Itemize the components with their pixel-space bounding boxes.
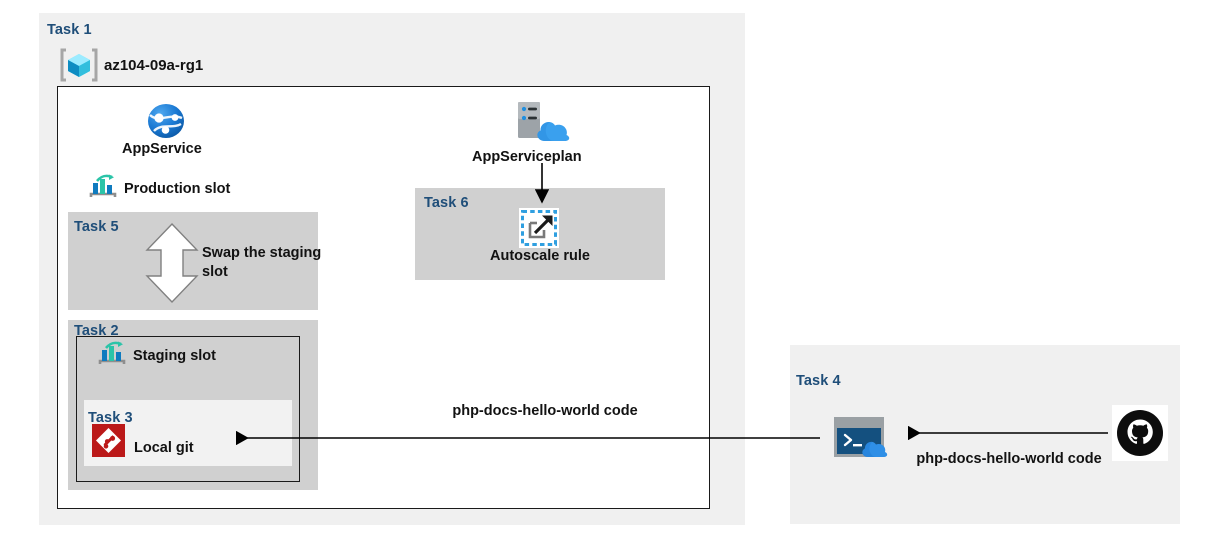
- autoscale-rule-label: Autoscale rule: [490, 248, 590, 264]
- task1-label: Task 1: [47, 22, 92, 38]
- appserviceplan-label: AppServiceplan: [472, 149, 582, 165]
- github-icon: [1112, 405, 1168, 461]
- appserviceplan-icon: [510, 100, 574, 146]
- task6-label: Task 6: [424, 195, 469, 211]
- resource-group-name: az104-09a-rg1: [104, 57, 203, 74]
- task5-label: Task 5: [74, 219, 119, 235]
- swap-text: Swap the staging slot: [202, 244, 322, 282]
- staging-slot-label: Staging slot: [133, 348, 216, 364]
- appservice-icon: [147, 103, 185, 139]
- diagram-canvas: Task 1 az104-09a-rg1: [0, 0, 1218, 545]
- deployment-slot-icon: [97, 341, 127, 367]
- center-arrow-label: php-docs-hello-world code: [445, 401, 645, 421]
- production-slot-label: Production slot: [124, 181, 230, 197]
- local-git-label: Local git: [134, 440, 194, 456]
- git-icon: [92, 424, 125, 457]
- task4-arrow-label: php-docs-hello-world code: [909, 449, 1109, 469]
- cloud-shell-icon: [832, 415, 900, 459]
- deployment-slot-icon: [88, 174, 118, 200]
- appservice-label: AppService: [122, 141, 202, 157]
- resource-group-icon: [60, 48, 98, 82]
- task4-label: Task 4: [796, 373, 841, 389]
- double-headed-vertical-arrow-icon: [144, 222, 200, 304]
- autoscale-icon: [519, 208, 559, 248]
